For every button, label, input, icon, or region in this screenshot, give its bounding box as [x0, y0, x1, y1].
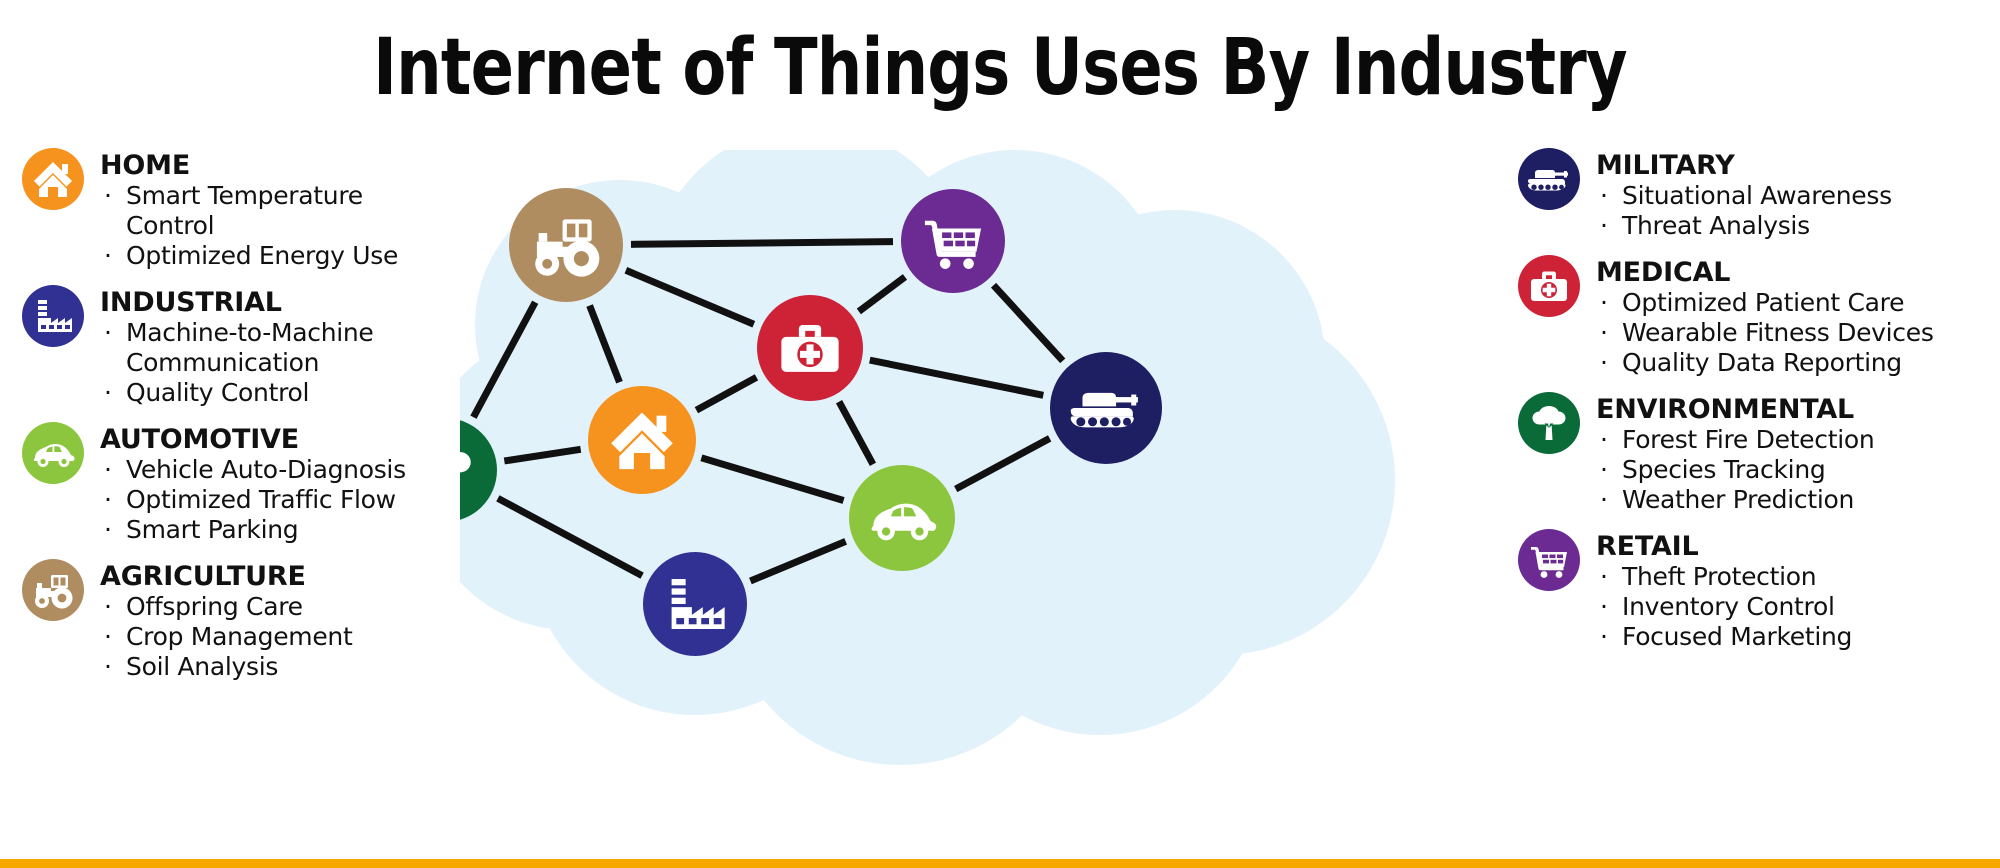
list-item: ·Smart Temperature Control: [100, 181, 452, 241]
bullet-dot: ·: [1600, 288, 1608, 318]
industry-bullets: ·Vehicle Auto-Diagnosis ·Optimized Traff…: [100, 455, 452, 545]
left-industry-column: HOME ·Smart Temperature Control ·Optimiz…: [22, 148, 452, 682]
bullet-dot: ·: [104, 241, 112, 271]
bullet-dot: ·: [104, 652, 112, 682]
bullet-text: Optimized Patient Care: [1622, 288, 1904, 317]
car-icon: [22, 422, 84, 484]
network-node-medical[interactable]: [757, 295, 863, 401]
bullet-dot: ·: [104, 455, 112, 485]
bullet-dot: ·: [104, 592, 112, 622]
industry-item-medical[interactable]: MEDICAL ·Optimized Patient Care ·Wearabl…: [1518, 255, 1988, 378]
bullet-text: Vehicle Auto-Diagnosis: [126, 455, 406, 484]
list-item: ·Species Tracking: [1596, 455, 1988, 485]
list-item: ·Machine-to-Machine Communication: [100, 318, 452, 378]
list-item: ·Optimized Energy Use: [100, 241, 452, 271]
list-item: ·Soil Analysis: [100, 652, 452, 682]
network-node-retail[interactable]: [901, 189, 1005, 293]
industry-bullets: ·Optimized Patient Care ·Wearable Fitnes…: [1596, 288, 1988, 378]
industry-bullets: ·Situational Awareness ·Threat Analysis: [1596, 181, 1988, 241]
page-title: Internet of Things Uses By Industry: [180, 22, 1820, 114]
bottom-accent-bar: [0, 859, 2000, 868]
industry-title: ENVIRONMENTAL: [1596, 394, 1988, 425]
network-canvas: [460, 150, 1520, 850]
list-item: ·Vehicle Auto-Diagnosis: [100, 455, 452, 485]
list-item: ·Situational Awareness: [1596, 181, 1988, 211]
bullet-text: Focused Marketing: [1622, 622, 1852, 651]
tree-icon: [1518, 392, 1580, 454]
bullet-dot: ·: [1600, 455, 1608, 485]
bullet-text: Situational Awareness: [1622, 181, 1892, 210]
iot-network-diagram: [460, 150, 1520, 850]
bullet-text: Smart Parking: [126, 515, 298, 544]
shopping-cart-icon: [1518, 529, 1580, 591]
industry-item-automotive[interactable]: AUTOMOTIVE ·Vehicle Auto-Diagnosis ·Opti…: [22, 422, 452, 545]
industry-item-environmental[interactable]: ENVIRONMENTAL ·Forest Fire Detection ·Sp…: [1518, 392, 1988, 515]
network-node-automotive[interactable]: [849, 465, 955, 571]
tank-icon: [1518, 148, 1580, 210]
network-node-military[interactable]: [1050, 352, 1162, 464]
bullet-dot: ·: [1600, 181, 1608, 211]
bullet-text: Machine-to-Machine Communication: [126, 318, 374, 377]
industry-bullets: ·Machine-to-Machine Communication ·Quali…: [100, 318, 452, 408]
bullet-dot: ·: [104, 378, 112, 408]
list-item: ·Quality Data Reporting: [1596, 348, 1988, 378]
list-item: ·Crop Management: [100, 622, 452, 652]
bullet-text: Optimized Traffic Flow: [126, 485, 396, 514]
list-item: ·Weather Prediction: [1596, 485, 1988, 515]
bullet-text: Soil Analysis: [126, 652, 278, 681]
bullet-dot: ·: [104, 485, 112, 515]
bullet-text: Quality Control: [126, 378, 309, 407]
bullet-dot: ·: [1600, 348, 1608, 378]
bullet-dot: ·: [104, 318, 112, 348]
bullet-text: Smart Temperature Control: [126, 181, 363, 240]
bullet-text: Crop Management: [126, 622, 352, 651]
bullet-dot: ·: [1600, 211, 1608, 241]
list-item: ·Optimized Traffic Flow: [100, 485, 452, 515]
industry-item-home[interactable]: HOME ·Smart Temperature Control ·Optimiz…: [22, 148, 452, 271]
industry-title: RETAIL: [1596, 531, 1988, 562]
bullet-text: Species Tracking: [1622, 455, 1825, 484]
industry-title: INDUSTRIAL: [100, 287, 452, 318]
industry-title: MILITARY: [1596, 150, 1988, 181]
bullet-text: Forest Fire Detection: [1622, 425, 1874, 454]
bullet-dot: ·: [104, 515, 112, 545]
industry-title: HOME: [100, 150, 452, 181]
tractor-icon: [22, 559, 84, 621]
industry-bullets: ·Forest Fire Detection ·Species Tracking…: [1596, 425, 1988, 515]
bullet-text: Inventory Control: [1622, 592, 1835, 621]
factory-icon: [22, 285, 84, 347]
bullet-text: Offspring Care: [126, 592, 303, 621]
bullet-dot: ·: [1600, 592, 1608, 622]
bullet-dot: ·: [1600, 485, 1608, 515]
list-item: ·Focused Marketing: [1596, 622, 1988, 652]
network-node-industrial[interactable]: [643, 552, 747, 656]
industry-item-military[interactable]: MILITARY ·Situational Awareness ·Threat …: [1518, 148, 1988, 241]
list-item: ·Theft Protection: [1596, 562, 1988, 592]
list-item: ·Offspring Care: [100, 592, 452, 622]
list-item: ·Inventory Control: [1596, 592, 1988, 622]
industry-item-industrial[interactable]: INDUSTRIAL ·Machine-to-Machine Communica…: [22, 285, 452, 408]
industry-bullets: ·Smart Temperature Control ·Optimized En…: [100, 181, 452, 271]
medical-kit-icon: [1518, 255, 1580, 317]
network-node-agriculture[interactable]: [509, 188, 623, 302]
list-item: ·Optimized Patient Care: [1596, 288, 1988, 318]
bullet-text: Theft Protection: [1622, 562, 1816, 591]
bullet-dot: ·: [1600, 318, 1608, 348]
bullet-text: Weather Prediction: [1622, 485, 1854, 514]
bullet-text: Optimized Energy Use: [126, 241, 398, 270]
bullet-dot: ·: [104, 622, 112, 652]
bullet-text: Quality Data Reporting: [1622, 348, 1902, 377]
bullet-dot: ·: [1600, 622, 1608, 652]
network-node-home[interactable]: [588, 386, 696, 494]
list-item: ·Wearable Fitness Devices: [1596, 318, 1988, 348]
bullet-text: Wearable Fitness Devices: [1622, 318, 1934, 347]
network-edge: [631, 242, 893, 245]
industry-title: MEDICAL: [1596, 257, 1988, 288]
list-item: ·Smart Parking: [100, 515, 452, 545]
bullet-text: Threat Analysis: [1622, 211, 1810, 240]
node-circle: [509, 188, 623, 302]
home-icon: [22, 148, 84, 210]
industry-title: AGRICULTURE: [100, 561, 452, 592]
industry-title: AUTOMOTIVE: [100, 424, 452, 455]
bullet-dot: ·: [104, 181, 112, 211]
industry-bullets: ·Offspring Care ·Crop Management ·Soil A…: [100, 592, 452, 682]
industry-bullets: ·Theft Protection ·Inventory Control ·Fo…: [1596, 562, 1988, 652]
industry-item-agriculture[interactable]: AGRICULTURE ·Offspring Care ·Crop Manage…: [22, 559, 452, 682]
node-circle: [643, 552, 747, 656]
list-item: ·Threat Analysis: [1596, 211, 1988, 241]
bullet-dot: ·: [1600, 562, 1608, 592]
right-industry-column: MILITARY ·Situational Awareness ·Threat …: [1518, 148, 1988, 652]
bullet-dot: ·: [1600, 425, 1608, 455]
list-item: ·Quality Control: [100, 378, 452, 408]
list-item: ·Forest Fire Detection: [1596, 425, 1988, 455]
industry-item-retail[interactable]: RETAIL ·Theft Protection ·Inventory Cont…: [1518, 529, 1988, 652]
